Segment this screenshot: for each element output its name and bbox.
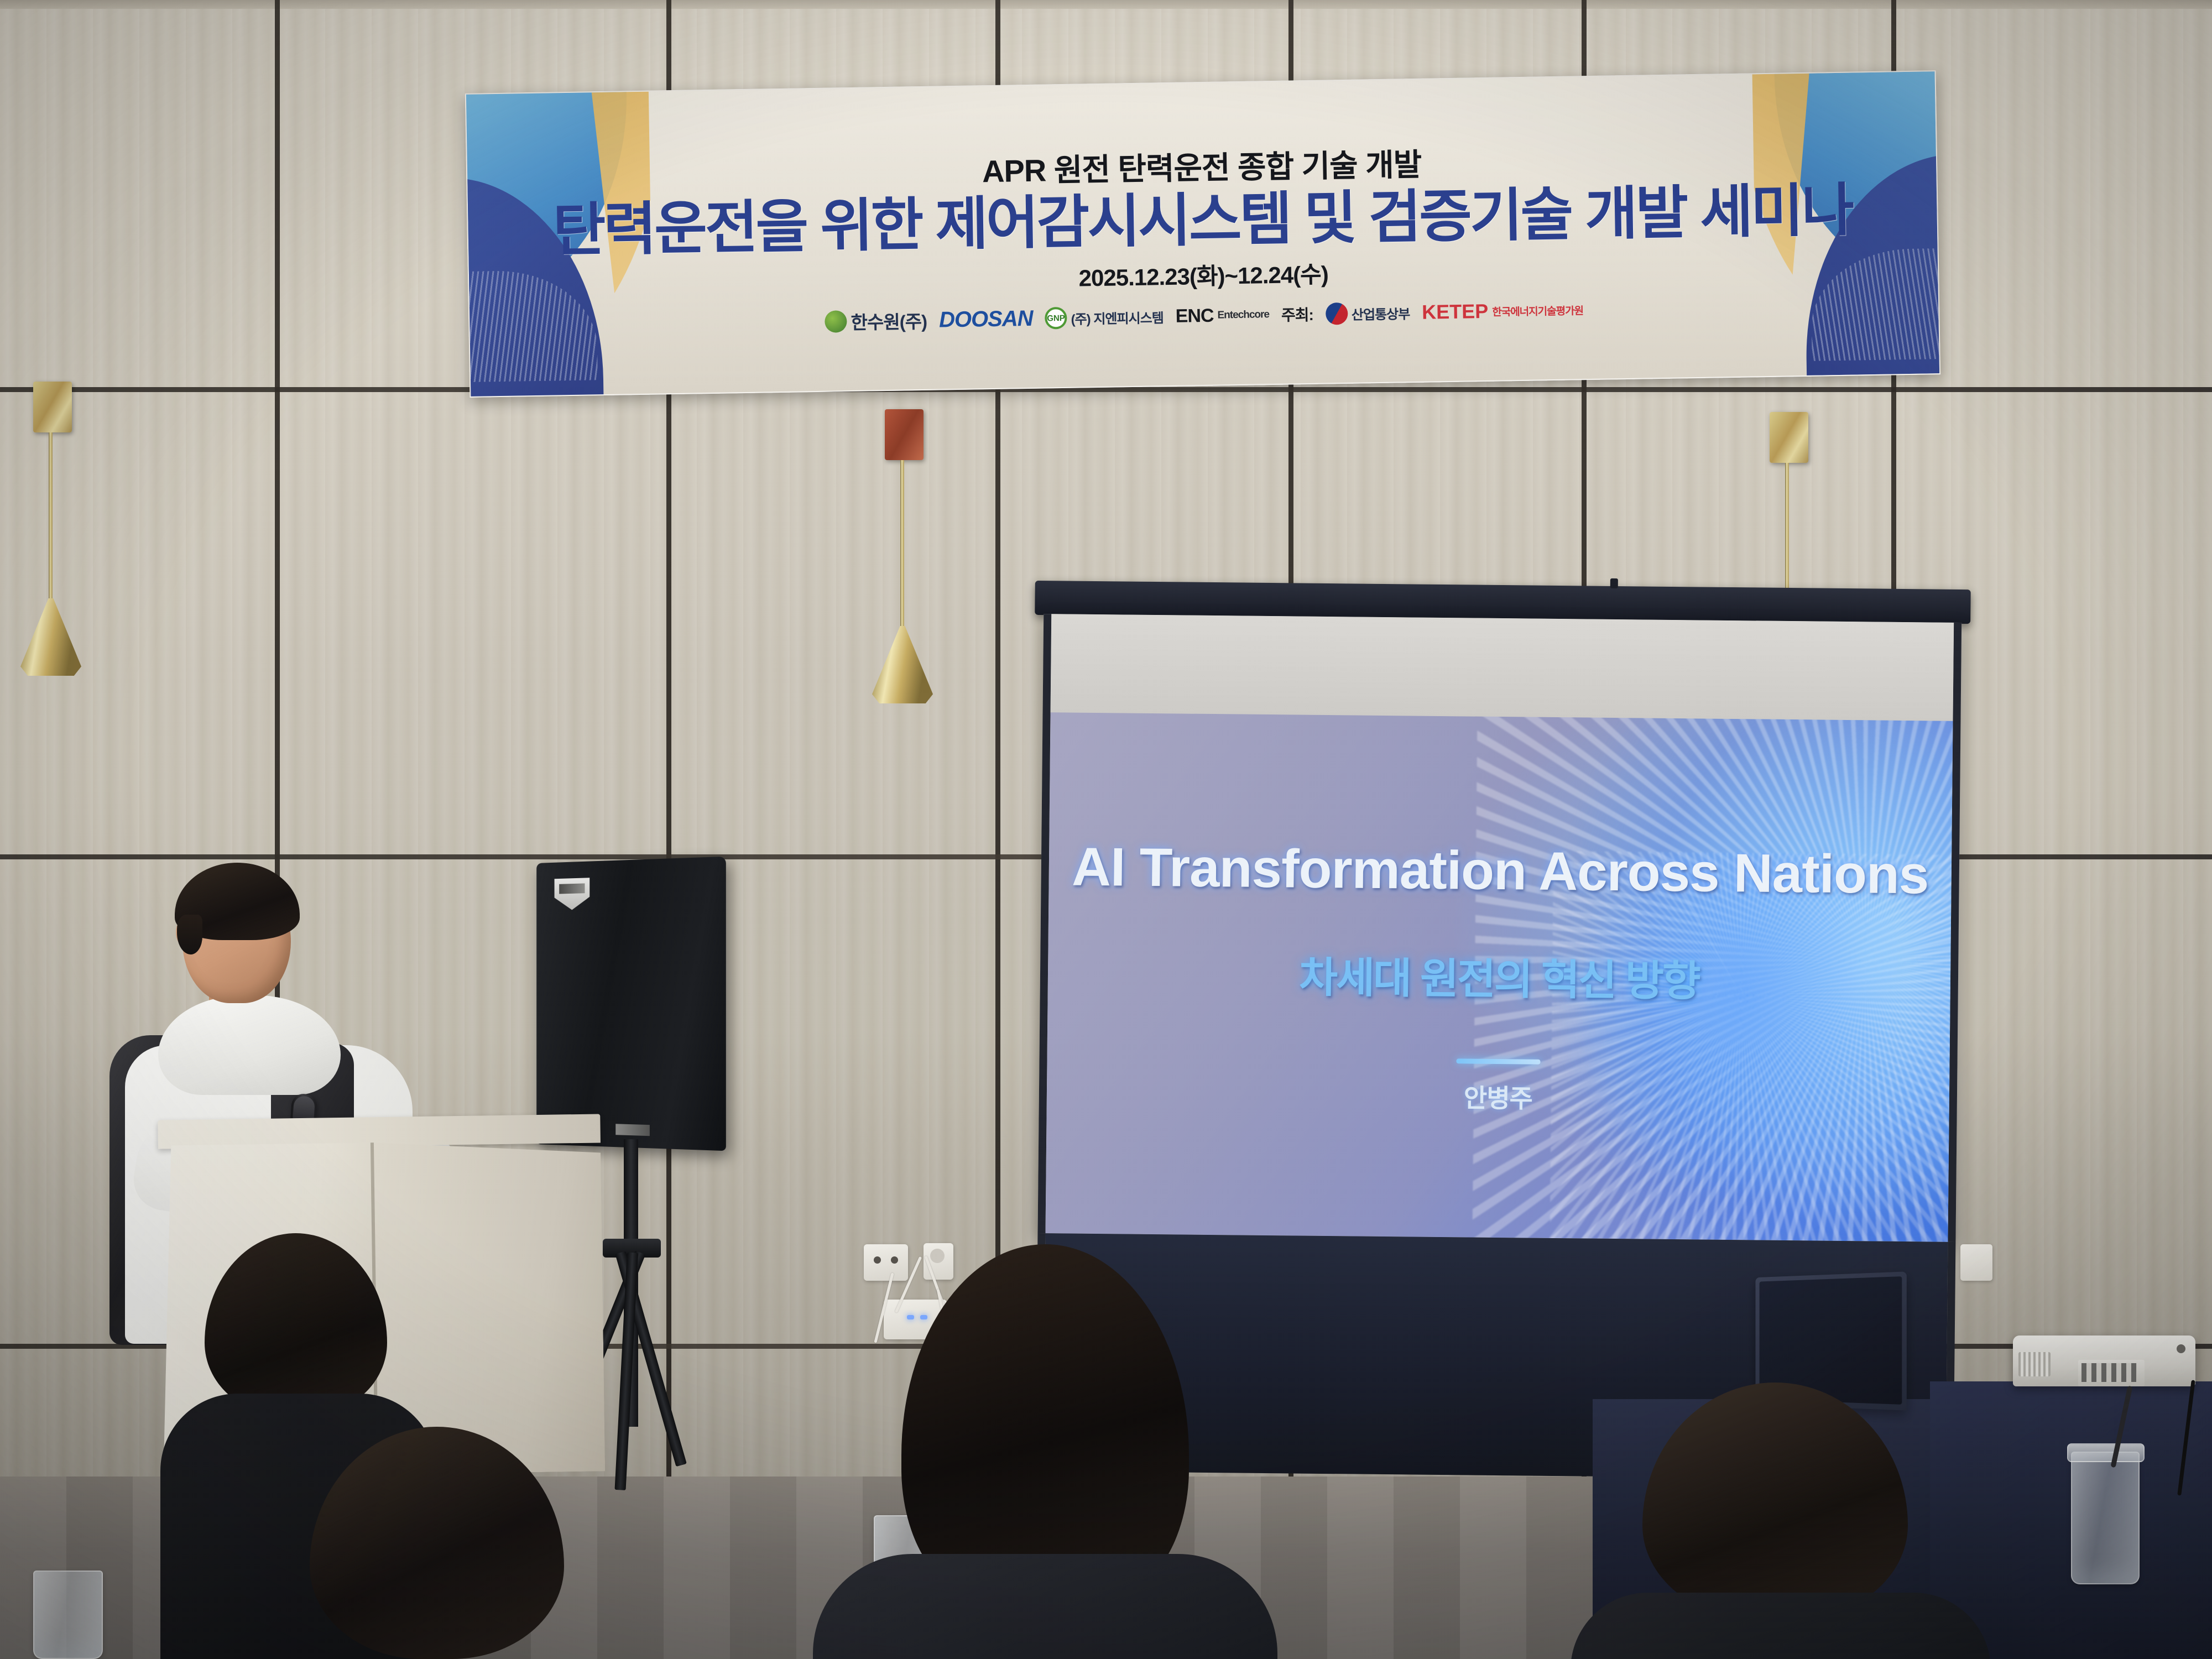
wall-sconce-left: [33, 382, 81, 676]
presentation-slide: AI Transformation Across Nations 차세대 원전의…: [1046, 712, 1953, 1242]
pa-speaker: [536, 857, 726, 1151]
audience-member-front-left-lower: [310, 1427, 575, 1659]
presenter-hair: [175, 863, 300, 940]
khnp-circle-mark: [825, 310, 847, 333]
logo-enc: ENC Entechcore: [1175, 304, 1269, 327]
cup-right: [2071, 1452, 2140, 1584]
banner-title: 탄력운전을 위한 제어감시시스템 및 검증기술 개발 세미나: [552, 180, 1853, 261]
audience-member-center: [846, 1244, 1233, 1659]
audience-shoulders: [813, 1554, 1277, 1659]
projector: [2013, 1335, 2195, 1386]
projector-knob: [2177, 1344, 2185, 1353]
slide-divider: [1456, 1058, 1540, 1064]
cup-right-lid: [2067, 1443, 2145, 1462]
gnp-circle-mark: GNP: [1045, 307, 1067, 330]
audience-hair-long: [901, 1244, 1189, 1598]
logo-khnp: 한수원(주): [825, 307, 927, 335]
audience-hair: [1642, 1383, 1908, 1620]
audience-hair: [205, 1233, 387, 1416]
seminar-room-photo: APR 원전 탄력운전 종합 기술 개발 탄력운전을 위한 제어감시시스템 및 …: [0, 0, 2212, 1659]
banner-eyebrow: APR 원전 탄력운전 종합 기술 개발: [982, 140, 1421, 191]
ceiling-edge: [0, 0, 2212, 9]
cup-left: [33, 1571, 103, 1659]
banner-date: 2025.12.23(화)~12.24(수): [1078, 256, 1328, 294]
host-label: 주최:: [1281, 303, 1313, 326]
audience-member-right: [1620, 1383, 1941, 1659]
screen-blank-area: [1051, 614, 1954, 721]
wall-grout-line: [0, 387, 2212, 392]
korea-gov-flag-mark: [1326, 302, 1348, 325]
slide-title: AI Transformation Across Nations: [1072, 836, 1929, 906]
logo-gnp: GNP (주) 지엔피시스템: [1045, 305, 1164, 329]
speaker-badge-icon: [555, 878, 590, 910]
speaker-brand-plate: [615, 1124, 650, 1136]
projector-vent: [2018, 1352, 2051, 1376]
audience-hair: [310, 1427, 564, 1659]
banner-logo-row: 한수원(주) DOOSAN GNP (주) 지엔피시스템 ENC Entechc…: [825, 296, 1583, 335]
logo-ketep: KETEP 한국에너지기술평가원: [1422, 298, 1583, 324]
slide-author: 안병주: [1464, 1078, 1533, 1115]
event-banner: APR 원전 탄력운전 종합 기술 개발 탄력운전을 위한 제어감시시스템 및 …: [465, 70, 1940, 398]
wall-sconce-center-left: [885, 409, 933, 703]
slide-subtitle: 차세대 원전의 혁신 방향: [1299, 943, 1700, 1008]
logo-doosan: DOOSAN: [939, 306, 1033, 332]
audience-shoulders: [1571, 1593, 1991, 1659]
screen-surface: AI Transformation Across Nations 차세대 원전의…: [1038, 614, 1962, 1242]
projector-ports: [2078, 1360, 2145, 1386]
wall-plate: [1960, 1244, 1992, 1281]
presenter-hood: [158, 995, 341, 1095]
logo-motie: 산업통상부: [1326, 301, 1410, 325]
